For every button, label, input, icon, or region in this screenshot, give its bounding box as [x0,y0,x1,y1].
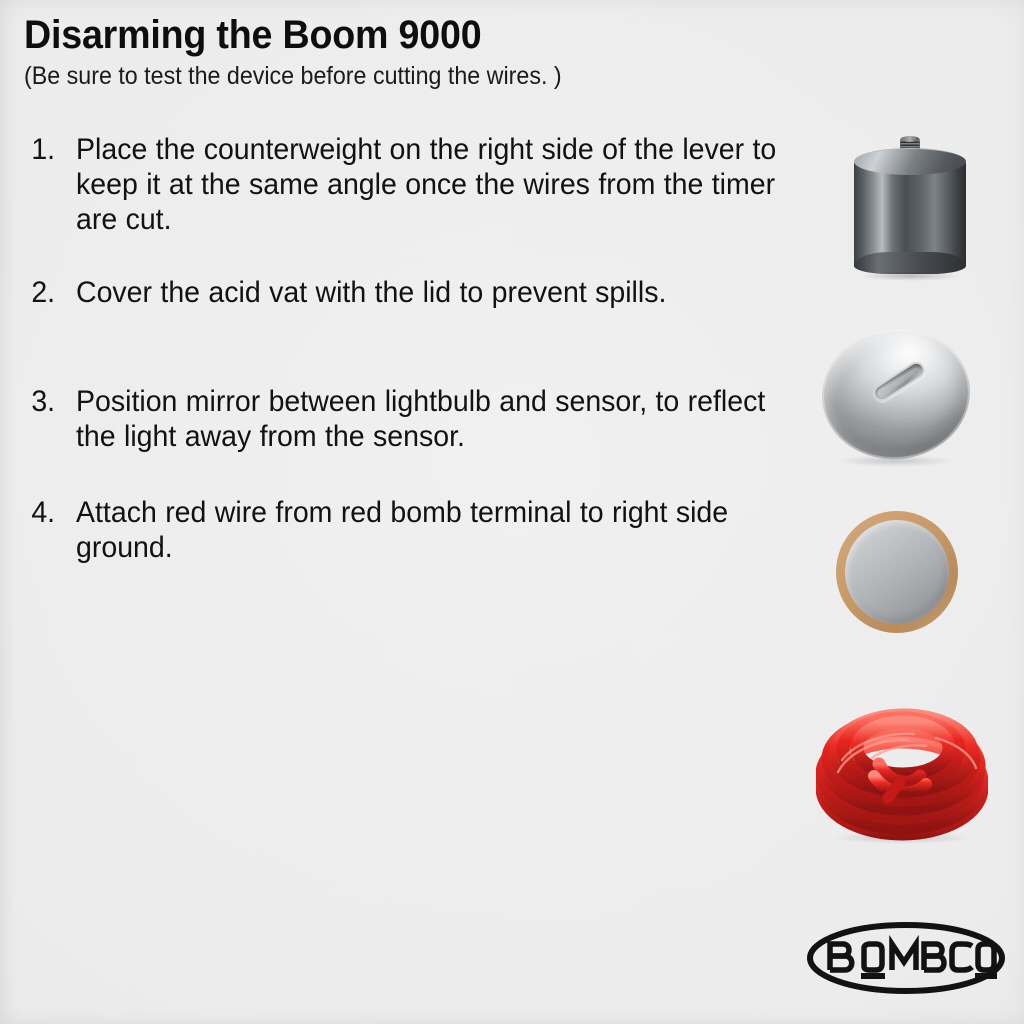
list-item: 2. Cover the acid vat with the lid to pr… [0,275,840,310]
brand-logo [806,920,1006,996]
list-item: 4. Attach red wire from red bomb termina… [0,495,840,565]
step-text: Attach red wire from red bomb terminal t… [76,495,802,565]
counterweight-icon [846,138,974,280]
instruction-sheet: Disarming the Boom 9000 (Be sure to test… [0,0,1024,1024]
step-number: 3. [4,384,76,419]
step-text: Position mirror between lightbulb and se… [76,384,802,454]
lid-rim [815,320,978,467]
red-wire-coil-icon [816,706,988,842]
steps-list: 1. Place the counterweight on the right … [0,132,840,565]
page-subtitle: (Be sure to test the device before cutti… [24,63,824,91]
header: Disarming the Boom 9000 (Be sure to test… [24,14,884,91]
step-number: 2. [4,275,76,310]
step-text: Cover the acid vat with the lid to preve… [76,275,802,310]
bombco-logo-svg [806,920,1006,996]
step-number: 1. [4,132,76,167]
counterweight-top-face [854,148,966,175]
step-text: Place the counterweight on the right sid… [76,132,802,237]
page-title: Disarming the Boom 9000 [24,14,832,56]
mirror-glass [845,520,949,624]
counterweight-shadow [860,271,960,281]
lid-icon [820,325,972,465]
step-number: 4. [4,495,76,530]
logo-wordmark [830,944,997,976]
list-item: 1. Place the counterweight on the right … [0,132,840,237]
list-item: 3. Position mirror between lightbulb and… [0,384,840,454]
counterweight-stud-cap [901,136,919,142]
mirror-icon [836,511,958,633]
red-wire-coil-svg [816,706,988,842]
wire-shadow [830,832,972,844]
